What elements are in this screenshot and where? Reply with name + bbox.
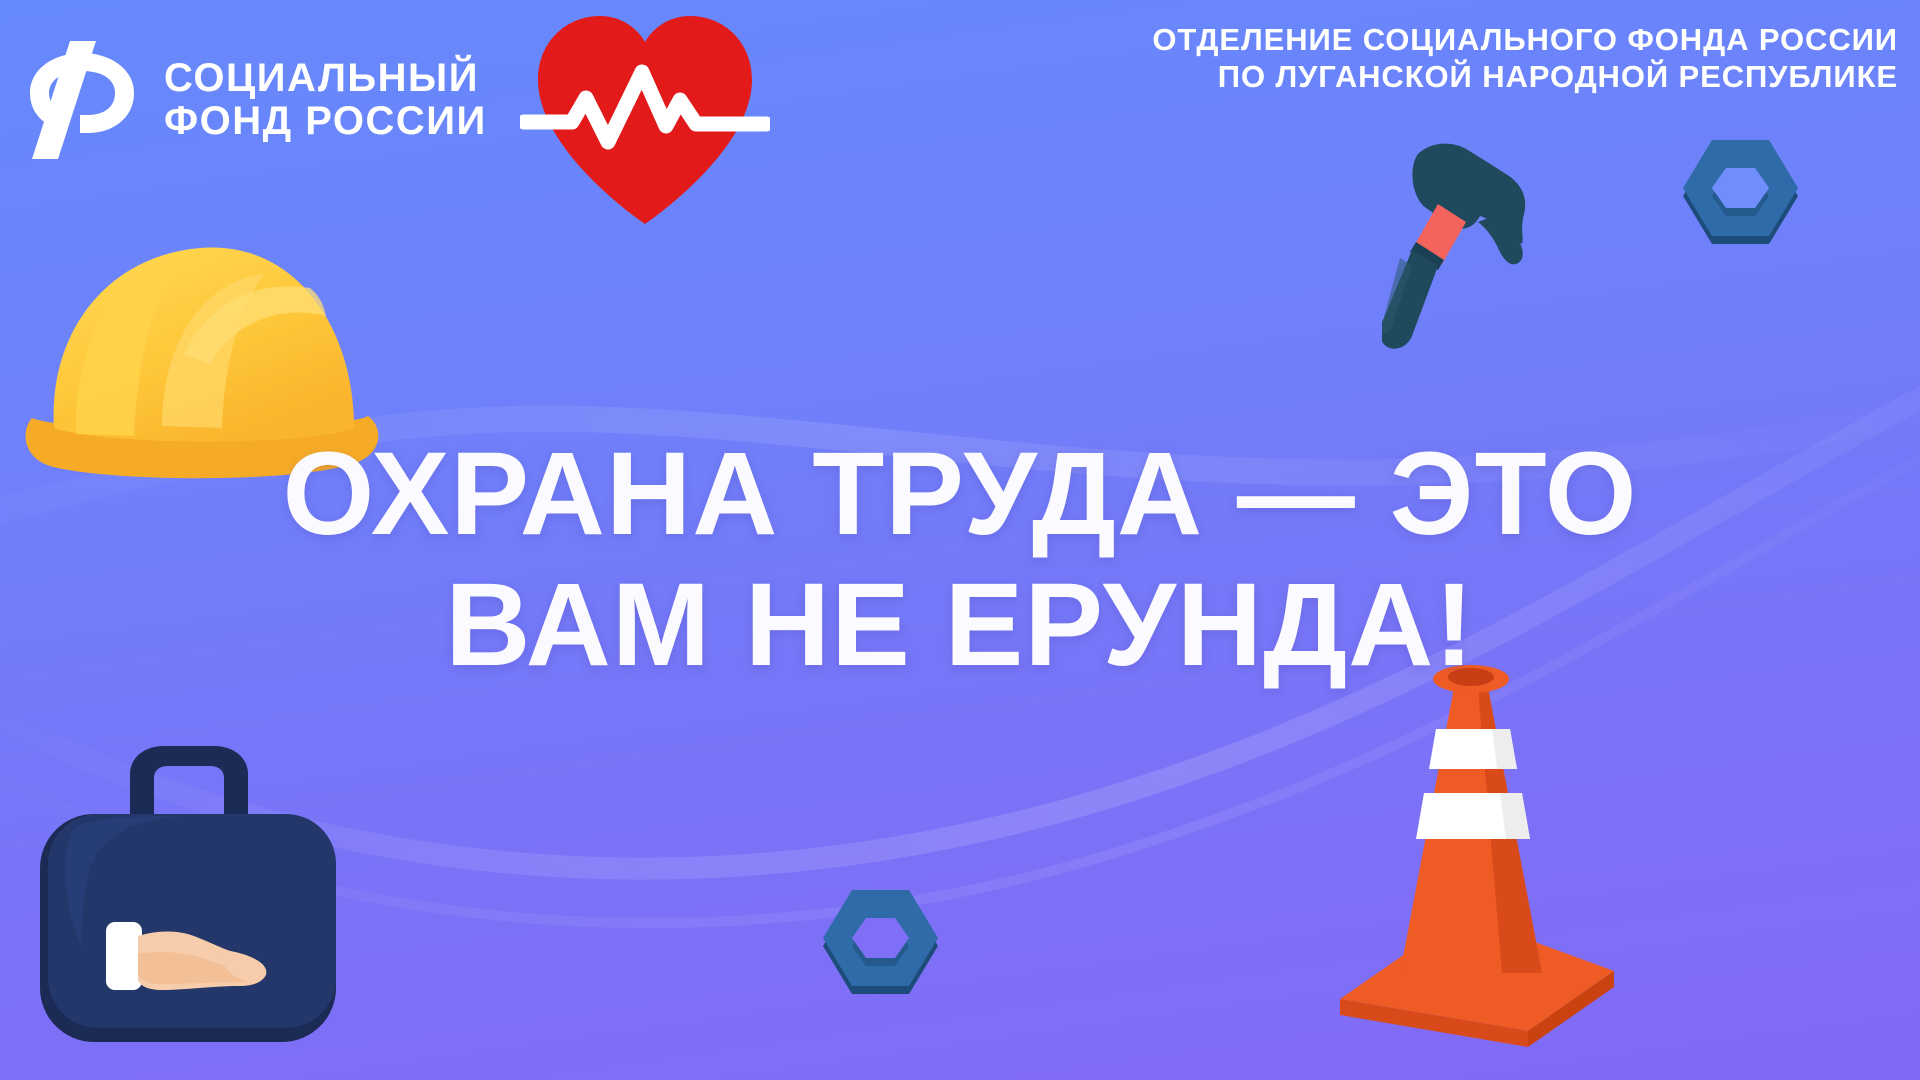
hex-nut-icon <box>808 878 953 1013</box>
heart-pulse-icon <box>520 2 770 232</box>
briefcase-hand-icon <box>18 718 356 1063</box>
headline-line2: ВАМ НЕ ЕРУНДА! <box>0 560 1920 691</box>
brand-logo-text: СОЦИАЛЬНЫЙ ФОНД РОССИИ <box>164 14 487 187</box>
hammer-icon <box>1382 132 1562 362</box>
organization-name-line1: ОТДЕЛЕНИЕ СОЦИАЛЬНОГО ФОНДА РОССИИ <box>1152 22 1898 59</box>
poster-header: СОЦИАЛЬНЫЙ ФОНД РОССИИ ОТДЕЛЕНИЕ СОЦИАЛЬ… <box>0 0 1920 150</box>
sfr-monogram-logo-icon <box>18 41 146 159</box>
organization-name-line2: ПО ЛУГАНСКОЙ НАРОДНОЙ РЕСПУБЛИКЕ <box>1152 59 1898 96</box>
hand-cuff <box>106 922 142 990</box>
traffic-cone-icon <box>1296 655 1626 1065</box>
page-title: ОХРАНА ТРУДА — ЭТО ВАМ НЕ ЕРУНДА! <box>0 429 1920 691</box>
headline-line1: ОХРАНА ТРУДА — ЭТО <box>0 429 1920 560</box>
brand-logo-line2: ФОНД РОССИИ <box>164 100 487 143</box>
brand-logo: СОЦИАЛЬНЫЙ ФОНД РОССИИ <box>18 14 487 187</box>
brand-logo-line1: СОЦИАЛЬНЫЙ <box>164 56 479 100</box>
poster-root: СОЦИАЛЬНЫЙ ФОНД РОССИИ ОТДЕЛЕНИЕ СОЦИАЛЬ… <box>0 0 1920 1080</box>
organization-name: ОТДЕЛЕНИЕ СОЦИАЛЬНОГО ФОНДА РОССИИ ПО ЛУ… <box>1152 22 1898 95</box>
